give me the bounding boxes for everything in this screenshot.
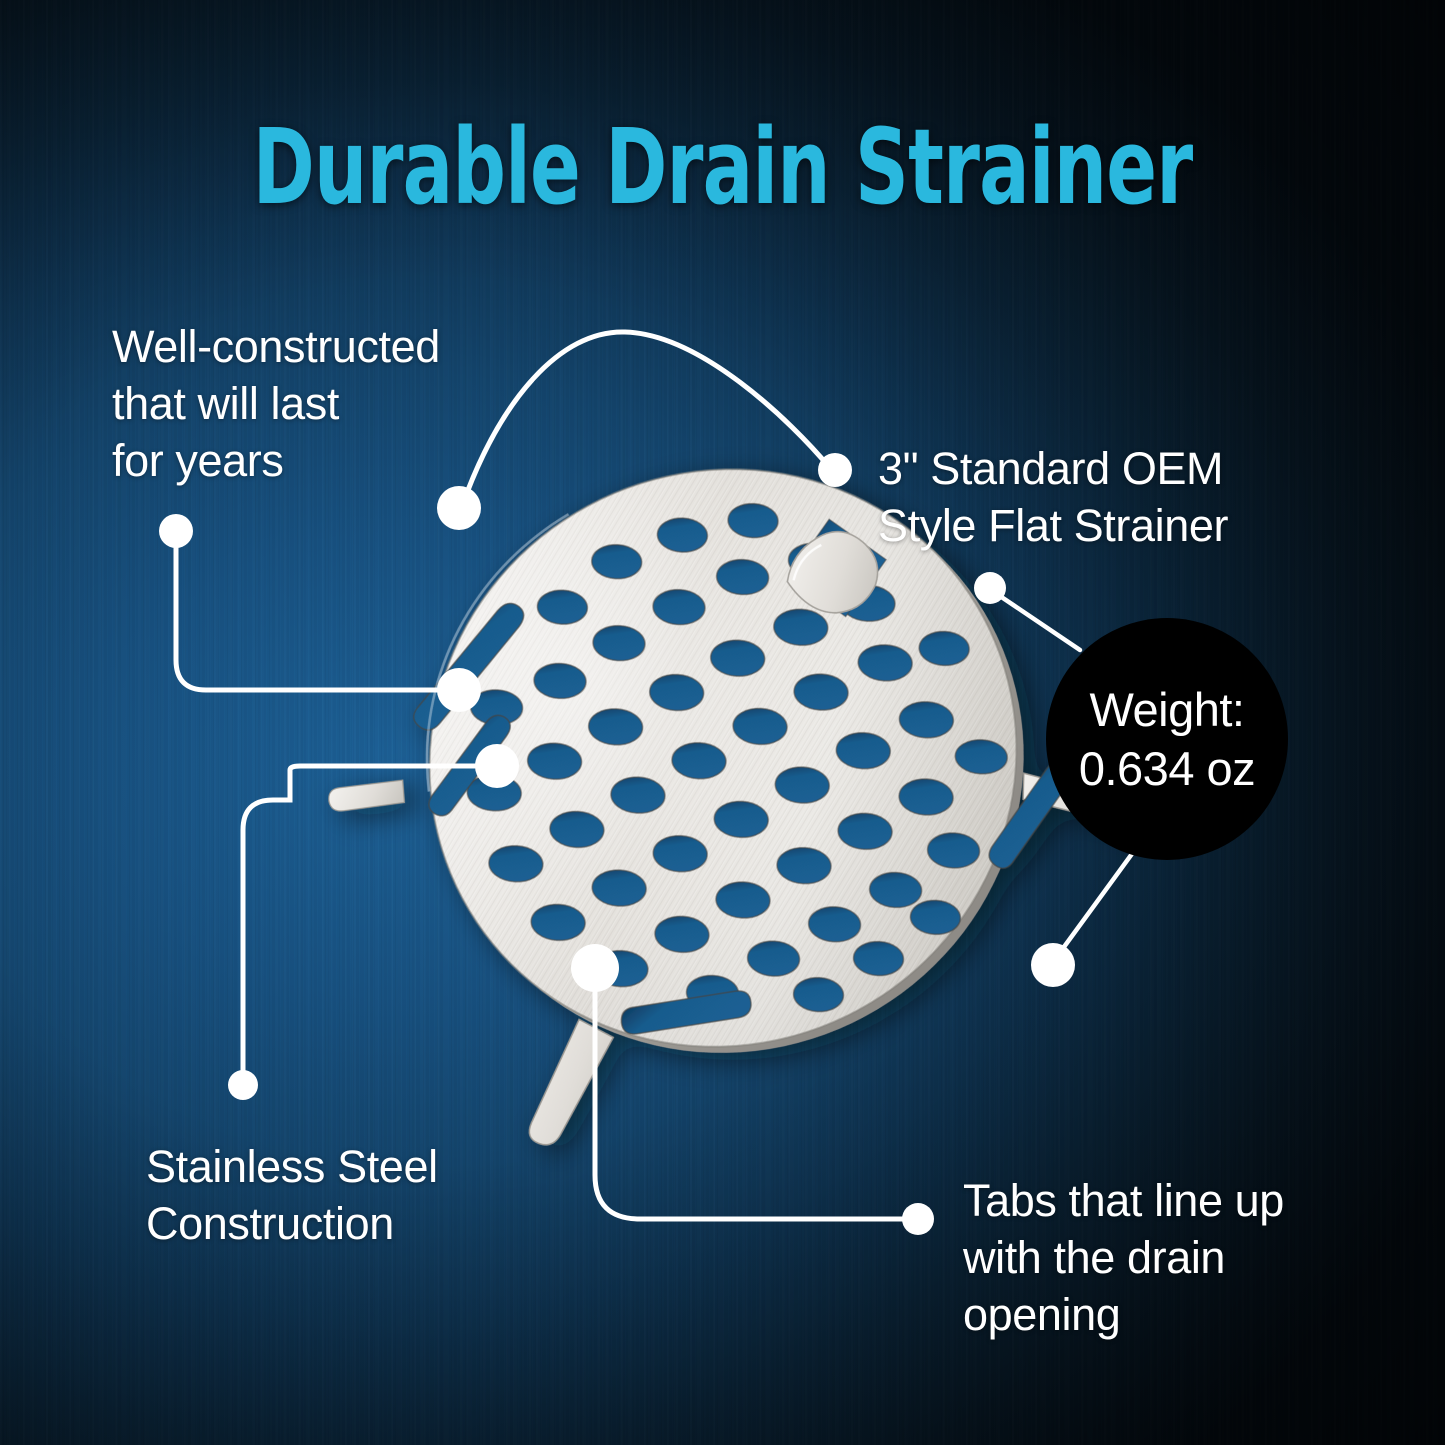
weight-badge-value: 0.634 oz: [1079, 739, 1255, 798]
callout-tabs-line-up: Tabs that line up with the drain opening: [963, 1172, 1383, 1343]
callout-stainless-steel: Stainless Steel Construction: [146, 1138, 576, 1252]
infographic-canvas: Durable Drain Strainer: [0, 0, 1445, 1445]
weight-badge: Weight: 0.634 oz: [1046, 618, 1288, 860]
weight-badge-label: Weight:: [1090, 680, 1245, 739]
callout-oem-style: 3" Standard OEM Style Flat Strainer: [878, 440, 1348, 554]
callout-well-constructed: Well-constructed that will last for year…: [112, 318, 582, 489]
page-title: Durable Drain Strainer: [145, 112, 1301, 222]
